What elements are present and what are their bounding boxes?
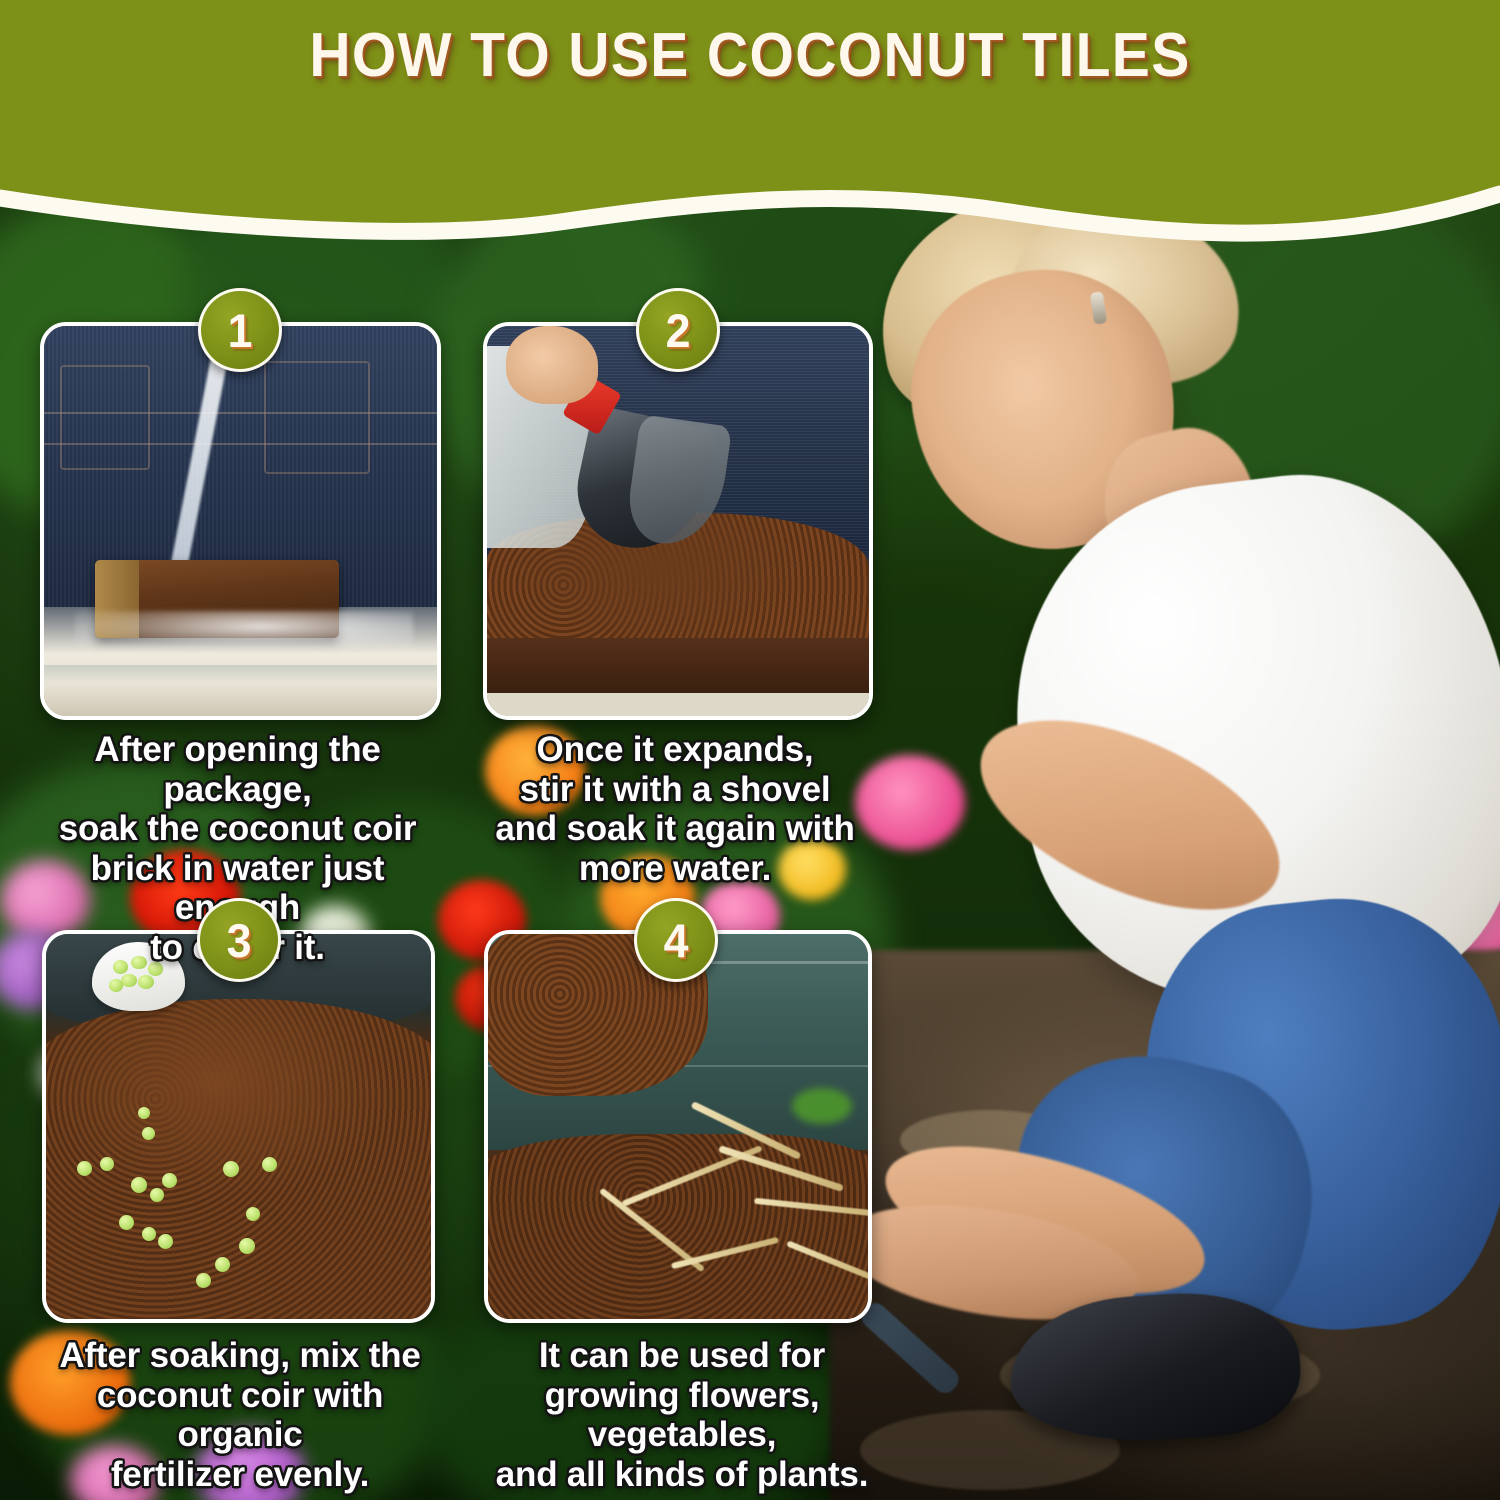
green-sprout [792,1088,852,1124]
coir-bed [484,1134,872,1323]
photo-trowel-stirring-expanded-coir [487,326,869,716]
fertilizer-pellet [239,1238,255,1254]
caption-line: It can be used for [458,1336,906,1376]
fertilizer-pellet [142,1227,156,1241]
caption-line: coconut coir with organic [30,1376,450,1455]
fertilizer-pellet [121,974,137,988]
header-banner: HOW TO USE COCONUT TILES [0,0,1500,270]
caption-line: stir it with a shovel [475,770,875,810]
caption-line: and all kinds of plants. [458,1455,906,1495]
fertilizer-pellet [158,1234,173,1249]
fertilizer-pellet [109,979,123,991]
fertilizer-pellet [150,1188,164,1202]
water-splash [75,611,413,650]
step-3-photo-card [42,930,435,1323]
fertilizer-pellet [196,1273,211,1288]
tray-ledge [44,665,437,716]
photo-water-poured-on-coir-brick [44,326,437,716]
caption-line: more water. [475,849,875,889]
step-3-number: 3 [227,917,252,964]
photo-plant-roots-growing-in-coir [488,934,868,1319]
caption-line: After opening the package, [30,730,445,809]
step-2-caption: Once it expands, stir it with a shovel a… [475,730,875,888]
step-3-caption: After soaking, mix the coconut coir with… [30,1336,450,1494]
denim-pocket [60,365,150,470]
fertilizer-pellet [162,1173,177,1188]
gripping-hand [506,326,598,404]
step-1-badge: 1 [198,288,282,372]
gardener-figure [860,180,1500,1440]
step-2-badge: 2 [636,288,720,372]
step-1-number: 1 [228,307,253,354]
step-4-photo-card [484,930,872,1323]
step-4-number: 4 [664,917,689,964]
fertilizer-pellet [138,975,154,989]
fertilizer-pellet [77,1161,92,1176]
caption-line: After soaking, mix the [30,1336,450,1376]
step-4-badge: 4 [634,898,718,982]
caption-line: soak the coconut coir [30,809,445,849]
fertilizer-pellet [131,1177,147,1193]
denim-pocket [264,361,370,474]
photo-coir-mixed-with-fertilizer-pellets [46,934,431,1319]
page-title: HOW TO USE COCONUT TILES [60,20,1440,91]
fertilizer-pellet [262,1157,277,1172]
step-2-number: 2 [666,307,691,354]
tray-ledge [487,693,869,716]
step-2-photo-card [483,322,873,720]
caption-line: fertilizer evenly. [30,1455,450,1495]
coir-front-edge [487,638,869,693]
caption-line: and soak it again with [475,809,875,849]
infographic-stage: HOW TO USE COCONUT TILES 1 After opening… [0,0,1500,1500]
step-1-photo-card [40,322,441,720]
fertilizer-pellet [142,1127,155,1140]
step-3-badge: 3 [197,898,281,982]
caption-line: growing flowers, vegetables, [458,1376,906,1455]
step-4-caption: It can be used for growing flowers, vege… [458,1336,906,1494]
caption-line: Once it expands, [475,730,875,770]
